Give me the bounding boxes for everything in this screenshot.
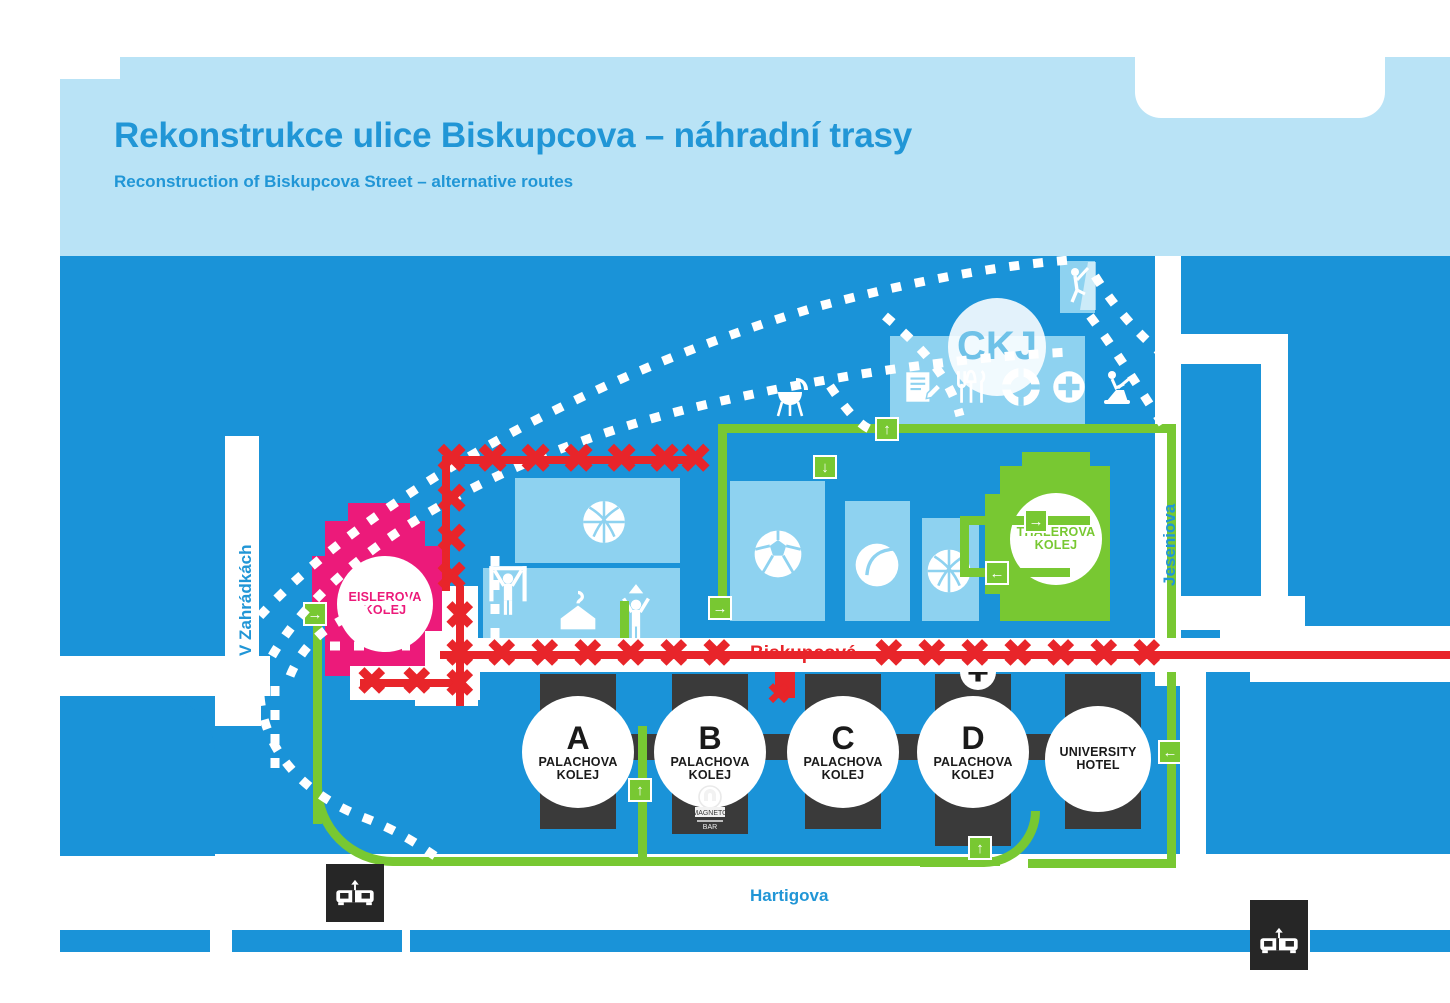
closure-cross: ✖ <box>561 438 596 480</box>
closure-cross: ✖ <box>1087 634 1121 674</box>
closure-cross: ✖ <box>400 662 434 702</box>
page-subtitle: Reconstruction of Biskupcova Street – al… <box>114 172 573 192</box>
closure-cross: ✖ <box>443 596 477 636</box>
header-notch-left <box>60 57 120 79</box>
walking-path-dotted <box>60 256 1450 926</box>
tram-line-segment <box>60 930 210 952</box>
street-label-hartigova: Hartigova <box>750 886 828 906</box>
closure-cross: ✖ <box>475 438 510 480</box>
logo-plate <box>1135 0 1385 118</box>
street-label-v-zahradkach: V Zahrádkách <box>236 545 256 657</box>
closure-cross: ✖ <box>647 438 682 480</box>
closure-cross: ✖ <box>528 634 562 674</box>
closure-cross: ✖ <box>678 438 713 480</box>
closure-cross: ✖ <box>700 634 734 674</box>
closure-cross: ✖ <box>443 664 477 704</box>
street-label-jeseniova: Jeseniova <box>1160 504 1180 586</box>
map-canvas[interactable]: CKJ EISLEROVA KOLEJ THALEROVA KOLEJ A <box>60 256 1450 926</box>
page-title: Rekonstrukce ulice Biskupcova – náhradní… <box>114 116 912 156</box>
closure-cross: ✖ <box>657 634 691 674</box>
tram-line-segment <box>1310 930 1450 952</box>
tram-stop-icon[interactable] <box>1250 912 1308 970</box>
closure-cross: ✖ <box>614 634 648 674</box>
closure-cross: ✖ <box>434 556 469 598</box>
closure-cross: ✖ <box>915 634 949 674</box>
closure-cross: ✖ <box>604 438 639 480</box>
closure-cross: ✖ <box>958 634 992 674</box>
closure-cross: ✖ <box>518 438 553 480</box>
closure-cross: ✖ <box>571 634 605 674</box>
closure-cross: ✖ <box>1001 634 1035 674</box>
closure-cross: ✖ <box>766 680 791 710</box>
tram-stop-icon[interactable] <box>326 864 384 922</box>
closure-cross: ✖ <box>355 662 389 702</box>
closure-cross: ✖ <box>872 634 906 674</box>
map-poster: Rekonstrukce ulice Biskupcova – náhradní… <box>0 0 1450 1003</box>
tram-line-segment <box>232 930 402 952</box>
street-label-biskupcova: Biskupcová <box>750 643 857 665</box>
tram-line-segment <box>410 930 1250 952</box>
closure-cross: ✖ <box>1130 634 1164 674</box>
closure-cross: ✖ <box>1044 634 1078 674</box>
closure-cross: ✖ <box>485 634 519 674</box>
